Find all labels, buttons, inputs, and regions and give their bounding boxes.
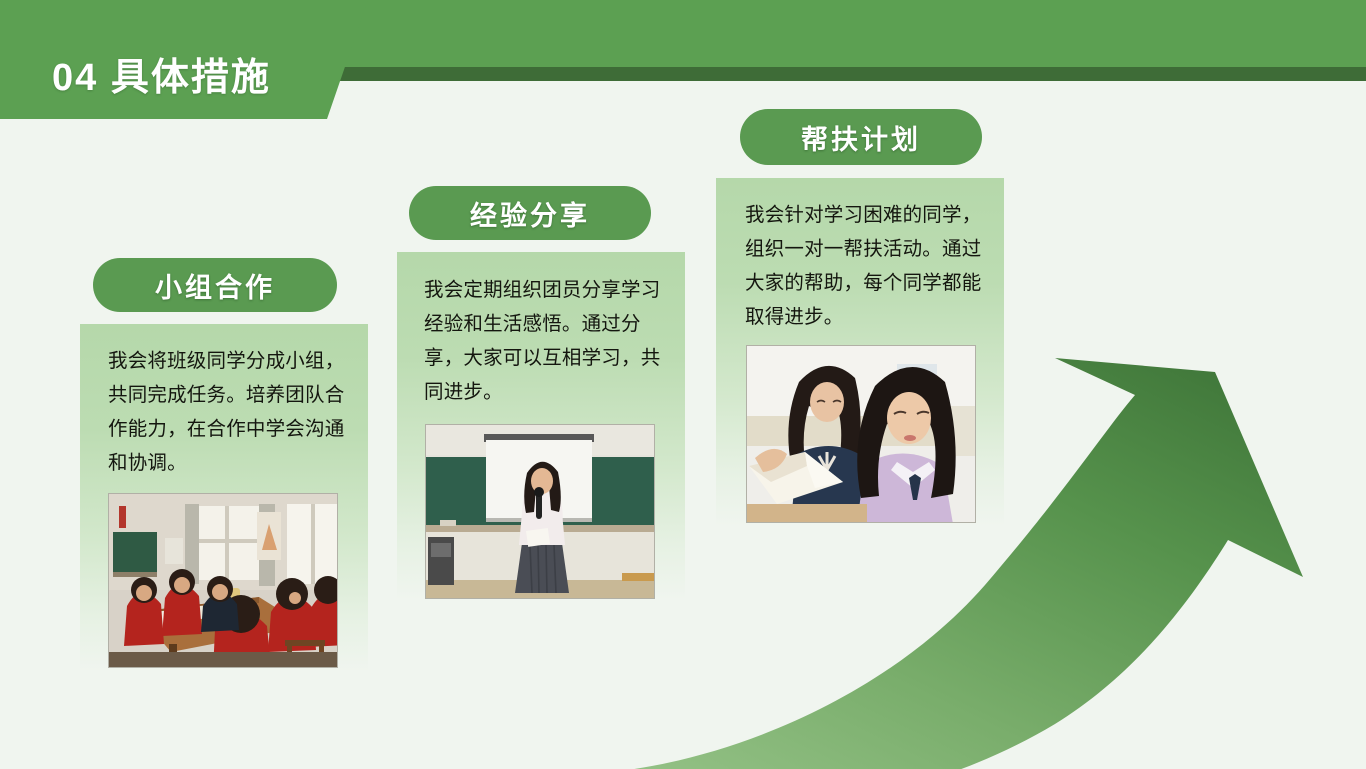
classroom-group-discussion-photo	[108, 493, 338, 668]
card-body-text: 我会定期组织团员分享学习经验和生活感悟。通过分享，大家可以互相学习，共同进步。	[424, 273, 664, 409]
page-title: 04 具体措施	[52, 52, 271, 104]
slide-04-specific-measures: 04 具体措施 小组合作 我会将班级同学分成小组，共同完成任务。培养团队合作能力…	[0, 0, 1366, 769]
students-reading-together-photo	[746, 345, 976, 523]
card-body-text: 我会将班级同学分成小组，共同完成任务。培养团队合作能力，在合作中学会沟通和协调。	[108, 344, 348, 480]
card-label-pill[interactable]: 帮扶计划	[740, 109, 982, 165]
card-label-pill[interactable]: 经验分享	[409, 186, 651, 240]
card-label-pill[interactable]: 小组合作	[93, 258, 337, 312]
student-presentation-photo	[425, 424, 655, 599]
card-body-text: 我会针对学习困难的同学，组织一对一帮扶活动。通过大家的帮助，每个同学都能取得进步…	[745, 198, 985, 334]
